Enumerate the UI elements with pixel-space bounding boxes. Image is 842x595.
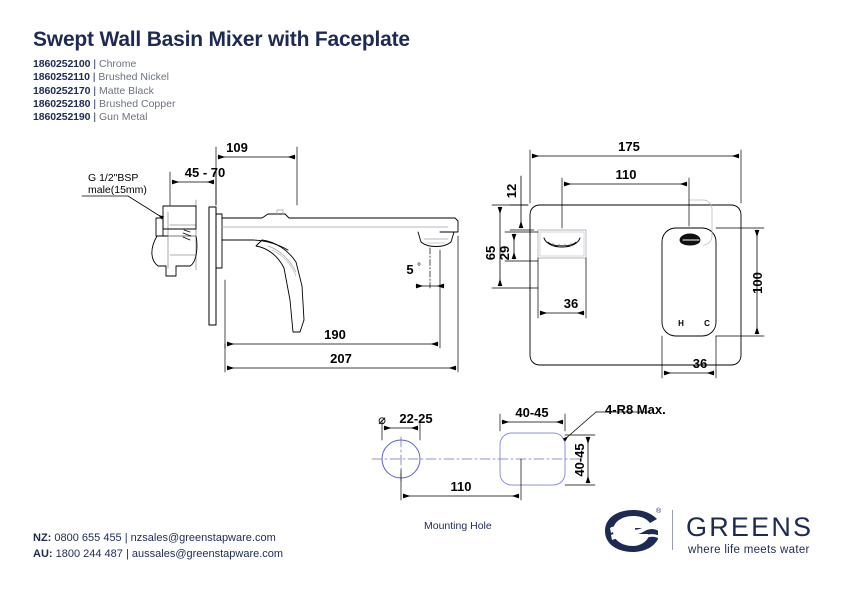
mounting-hole-caption: Mounting Hole (424, 520, 492, 532)
dim-label-36-right: 36 (693, 356, 707, 371)
dim-label-40-45-right: 40-45 (572, 443, 587, 476)
registered-mark: ® (656, 508, 661, 515)
dim-label-4-r8: 4-R8 Max. (605, 402, 666, 417)
dim-label-110-front: 110 (616, 167, 637, 182)
dim-label-65: 65 (483, 246, 498, 260)
contact-line-au: AU: 1800 244 487 | aussales@greenstapwar… (33, 546, 283, 562)
dim-label-5-degree: 5 (406, 262, 413, 277)
contact-separator: | (126, 548, 129, 560)
degree-symbol: ° (417, 262, 421, 273)
dim-110-front (562, 178, 689, 228)
contact-email-nz[interactable]: nzsales@greenstapware.com (131, 532, 276, 544)
contact-email-au[interactable]: aussales@greenstapware.com (132, 548, 283, 560)
dim-label-175: 175 (618, 139, 640, 154)
logo-wordmark: GREENS (686, 512, 813, 543)
dim-label-29: 29 (497, 246, 512, 260)
inlet-note-leader (82, 196, 163, 218)
handle-hot-label: H (678, 319, 684, 328)
dim-label-190: 190 (324, 327, 346, 342)
handle-cold-label: C (704, 319, 710, 328)
mounting-hole-geometry (372, 433, 580, 485)
dim-label-dia-22-25: 22-25 (399, 411, 432, 426)
contact-separator: | (125, 532, 128, 544)
datasheet-page: Swept Wall Basin Mixer with Faceplate 18… (0, 0, 842, 595)
dim-label-40-45-top: 40-45 (515, 405, 548, 420)
contact-region-nz: NZ: (33, 532, 51, 544)
dim-36-right (662, 336, 716, 378)
brand-logo: ® GREENS where life meets water (600, 506, 815, 562)
dim-label-207: 207 (330, 351, 352, 366)
dim-label-36-left: 36 (564, 296, 578, 311)
dim-label-109: 109 (226, 140, 248, 155)
diameter-symbol: ⌀ (378, 412, 386, 427)
angle-label-group: 5 ° (406, 262, 421, 277)
contact-phone-au: 1800 244 487 (56, 548, 123, 560)
dim-label-100: 100 (750, 272, 765, 294)
dim-label-110-mounting: 110 (451, 479, 472, 494)
contact-region-au: AU: (33, 548, 53, 560)
inlet-note-line1: G 1/2"BSP (88, 172, 138, 184)
logo-tagline: where life meets water (688, 544, 810, 556)
footer-contact: NZ: 0800 655 455 | nzsales@greenstapware… (33, 530, 283, 562)
dim-109 (216, 147, 297, 205)
logo-divider (672, 510, 673, 550)
dim-label-45-70: 45 - 70 (185, 165, 225, 180)
dim-label-12: 12 (504, 184, 519, 198)
dim-36-left (538, 258, 586, 318)
contact-line-nz: NZ: 0800 655 455 | nzsales@greenstapware… (33, 530, 283, 546)
inlet-note-line2: male(15mm) (88, 184, 147, 196)
contact-phone-nz: 0800 655 455 (54, 532, 121, 544)
